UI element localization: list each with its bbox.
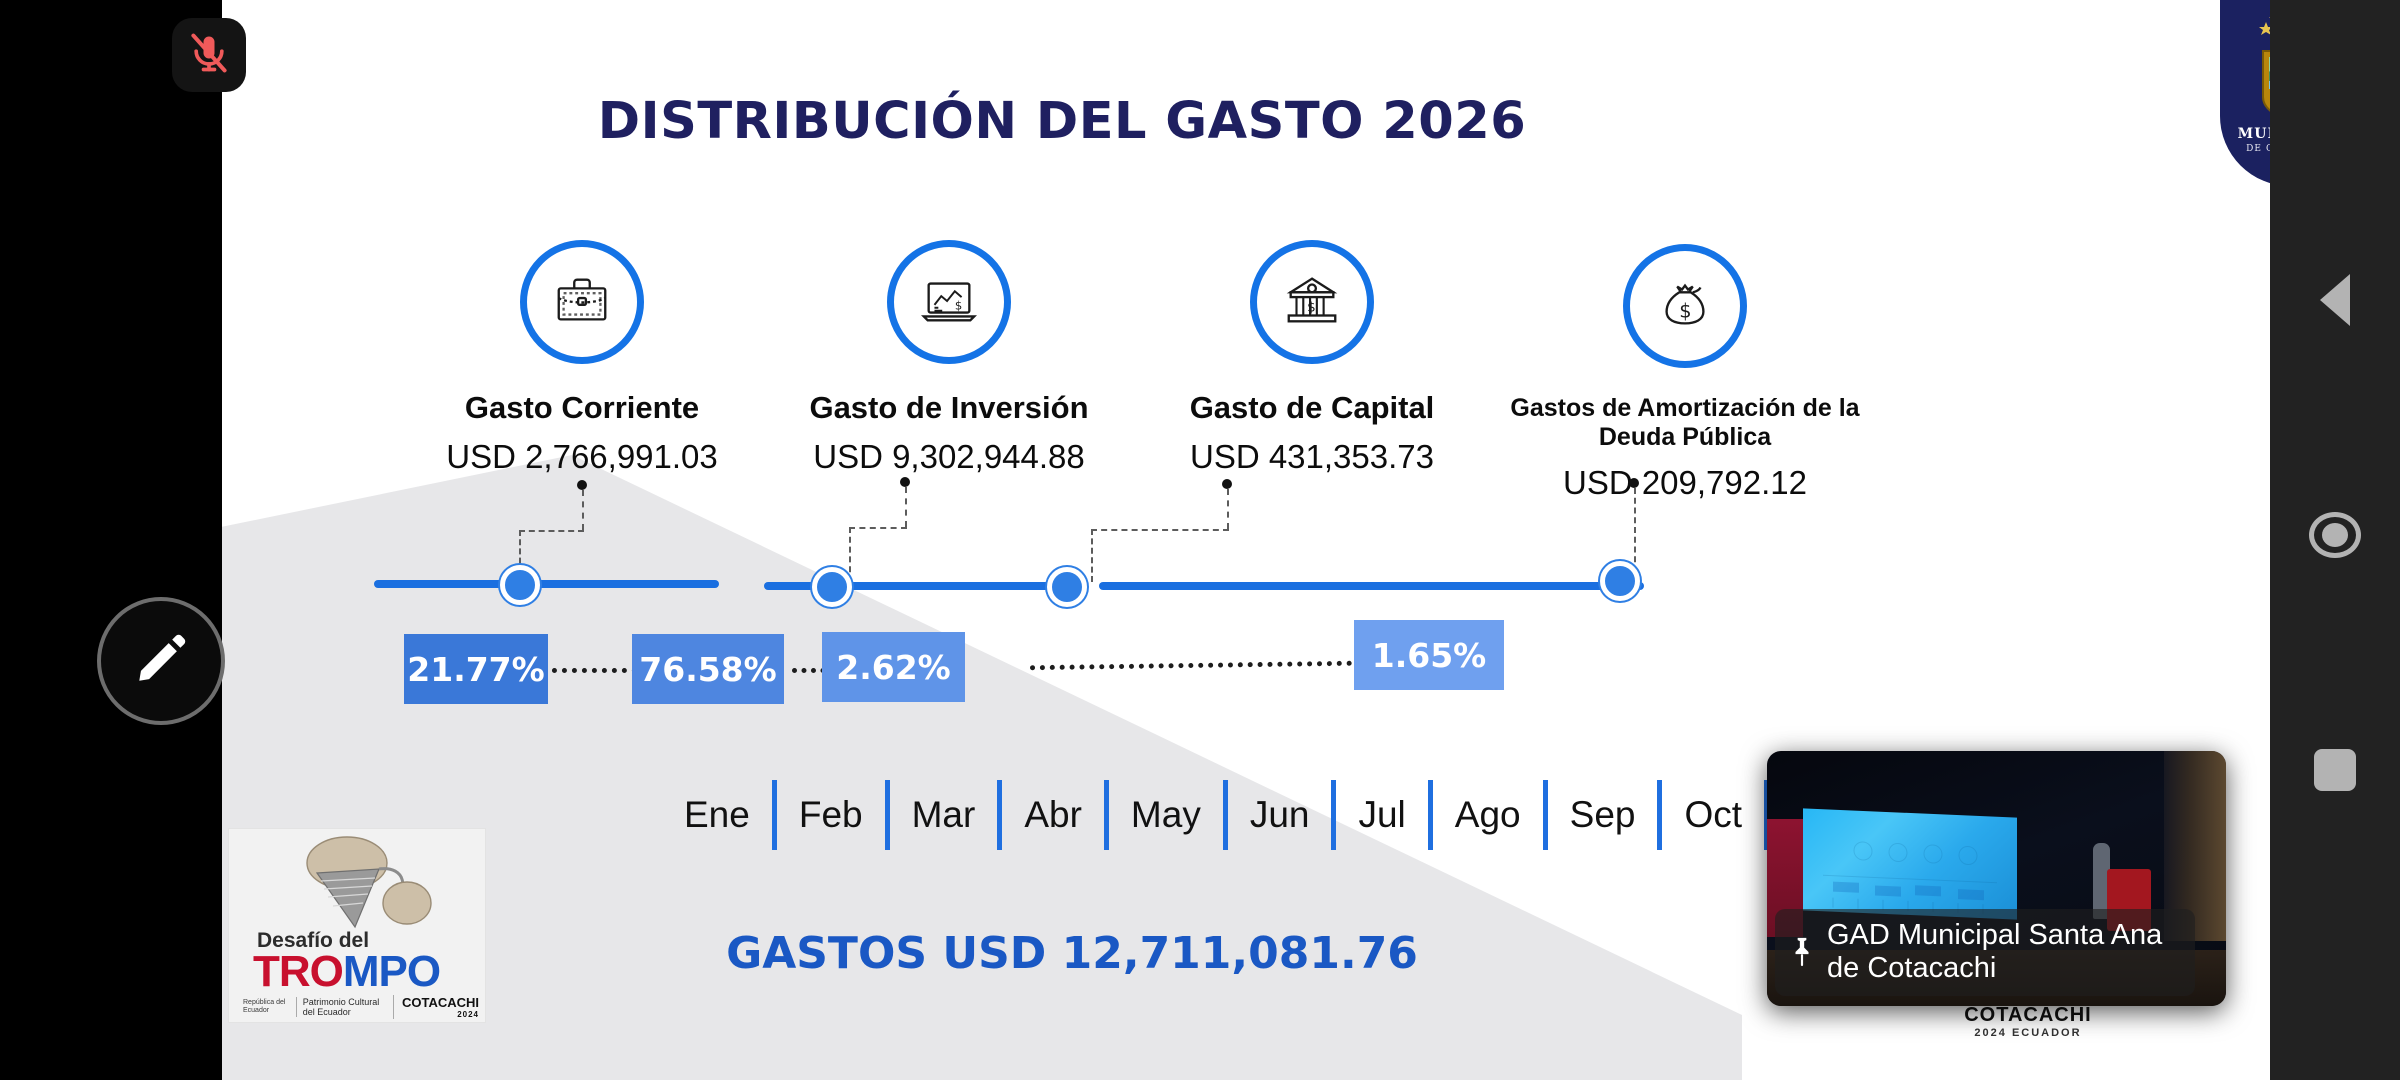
category-icon-circle-3: $ bbox=[1623, 244, 1747, 368]
mic-muted-button[interactable] bbox=[172, 18, 246, 92]
crest-subtitle: DE COTACACHI bbox=[2246, 144, 2270, 154]
category-value-1: USD 9,302,944.88 bbox=[734, 438, 1164, 476]
trompo-wordmark: TROMPO bbox=[253, 947, 440, 997]
cotacachi-logo: cachi n 2023 – 2027 bbox=[222, 70, 292, 280]
back-triangle-icon bbox=[2320, 274, 2350, 326]
cotacachi-badge: COTACACHI 2024 ECUADOR bbox=[1953, 1000, 2103, 1042]
axis-node-2[interactable] bbox=[1047, 567, 1087, 607]
picture-in-picture-player[interactable]: GAD Municipal Santa Ana de Cotacachi bbox=[1767, 751, 2226, 1006]
chip-link-2 bbox=[1030, 661, 1352, 670]
spinning-top-illustration bbox=[229, 835, 486, 931]
page-title: DISTRIBUCIÓN DEL GASTO 2026 bbox=[222, 92, 1902, 151]
axis-segment-0 bbox=[374, 580, 719, 588]
percent-chip-1: 76.58% bbox=[632, 634, 784, 704]
month-label: Jul bbox=[1336, 794, 1427, 836]
svg-text:$: $ bbox=[1307, 299, 1316, 315]
recents-square-icon bbox=[2314, 749, 2356, 791]
axis-node-1[interactable] bbox=[812, 567, 852, 607]
android-navigation-bar bbox=[2270, 0, 2400, 1080]
month-label: Oct bbox=[1662, 794, 1764, 836]
category-card-2: $ Gasto de Capital USD 431,353.73 bbox=[1112, 240, 1512, 476]
crest-title: MUNICIPIO bbox=[2238, 126, 2270, 142]
month-label: Feb bbox=[777, 794, 885, 836]
shield-icon bbox=[2260, 48, 2270, 120]
bank-icon: $ bbox=[1281, 269, 1343, 336]
category-label-1: Gasto de Inversión bbox=[734, 390, 1164, 426]
trompo-logo: Desafío del TROMPO República del Ecuador… bbox=[228, 828, 486, 1023]
screen: DISTRIBUCIÓN DEL GASTO 2026 Gasto Corrie… bbox=[0, 0, 2400, 1080]
pip-title-bar[interactable]: GAD Municipal Santa Ana de Cotacachi bbox=[1775, 909, 2195, 996]
category-value-2: USD 431,353.73 bbox=[1112, 438, 1512, 476]
briefcase-icon bbox=[551, 269, 613, 336]
category-icon-circle-1: $ bbox=[887, 240, 1011, 364]
percent-chip-2: 2.62% bbox=[822, 632, 965, 702]
back-button[interactable] bbox=[2270, 250, 2400, 350]
percent-value-1: 76.58% bbox=[639, 650, 776, 689]
republic-label: República del Ecuador bbox=[243, 999, 290, 1014]
trompo-word-part2: MPO bbox=[343, 947, 440, 996]
category-value-0: USD 2,766,991.03 bbox=[372, 438, 792, 476]
pencil-icon bbox=[133, 631, 189, 692]
left-gutter bbox=[0, 0, 222, 1080]
category-card-3: $ Gastos de Amortización de la Deuda Púb… bbox=[1470, 244, 1900, 502]
axis-node-3[interactable] bbox=[1600, 561, 1640, 601]
trompo-footer: República del Ecuador Patrimonio Cultura… bbox=[243, 995, 479, 1019]
svg-text:$: $ bbox=[955, 298, 962, 312]
axis-segment-1 bbox=[764, 582, 1054, 590]
trompo-word-part1: TRO bbox=[253, 947, 343, 996]
percent-value-3: 1.65% bbox=[1372, 636, 1487, 675]
home-circle-icon bbox=[2309, 512, 2361, 558]
mic-muted-icon bbox=[187, 31, 231, 80]
svg-text:$: $ bbox=[1679, 299, 1691, 322]
category-icon-circle-2: $ bbox=[1250, 240, 1374, 364]
laptop-chart-icon: $ bbox=[918, 269, 980, 336]
trompo-city-label: COTACACHI2024 bbox=[393, 995, 479, 1019]
pip-channel-title: GAD Municipal Santa Ana de Cotacachi bbox=[1827, 919, 2181, 984]
badge-name: COTACACHI bbox=[1964, 1004, 2092, 1027]
category-label-2: Gasto de Capital bbox=[1112, 390, 1512, 426]
month-label: Sep bbox=[1548, 794, 1658, 836]
month-label: Ago bbox=[1433, 794, 1543, 836]
percent-value-2: 2.62% bbox=[836, 648, 951, 687]
category-icon-circle-0 bbox=[520, 240, 644, 364]
month-label: May bbox=[1109, 794, 1223, 836]
category-value-3: USD 209,792.12 bbox=[1470, 464, 1900, 502]
edit-fab-button[interactable] bbox=[97, 597, 225, 725]
heritage-label: Patrimonio Cultural del Ecuador bbox=[296, 997, 387, 1018]
category-card-1: $ Gasto de Inversión USD 9,302,944.88 bbox=[734, 240, 1164, 476]
percent-chip-3: 1.65% bbox=[1354, 620, 1504, 690]
percent-value-0: 21.77% bbox=[407, 650, 544, 689]
month-label: Abr bbox=[1002, 794, 1104, 836]
trompo-year: 2024 bbox=[402, 1010, 479, 1019]
month-label: Mar bbox=[890, 794, 998, 836]
recents-button[interactable] bbox=[2270, 720, 2400, 820]
month-axis: Ene Feb Mar Abr May Jun Jul Ago Sep Oct … bbox=[662, 780, 1879, 850]
category-card-0: Gasto Corriente USD 2,766,991.03 bbox=[372, 240, 792, 476]
municipality-crest: MUNICIPIO DE COTACACHI bbox=[2220, 0, 2270, 186]
percent-chip-0: 21.77% bbox=[404, 634, 548, 704]
projected-slide bbox=[1803, 808, 2017, 919]
month-label: Ene bbox=[662, 794, 772, 836]
axis-node-0[interactable] bbox=[500, 565, 540, 605]
category-label-0: Gasto Corriente bbox=[372, 390, 792, 426]
money-bag-icon: $ bbox=[1654, 273, 1716, 340]
badge-year: 2024 ECUADOR bbox=[1974, 1027, 2081, 1039]
screen-content bbox=[1803, 808, 2017, 919]
home-button[interactable] bbox=[2270, 485, 2400, 585]
pin-icon bbox=[1789, 935, 1815, 969]
month-label: Jun bbox=[1228, 794, 1332, 836]
stars-arc-icon bbox=[2250, 8, 2270, 46]
category-label-3: Gastos de Amortización de la Deuda Públi… bbox=[1470, 394, 1900, 452]
axis-segment-2 bbox=[1099, 582, 1644, 590]
